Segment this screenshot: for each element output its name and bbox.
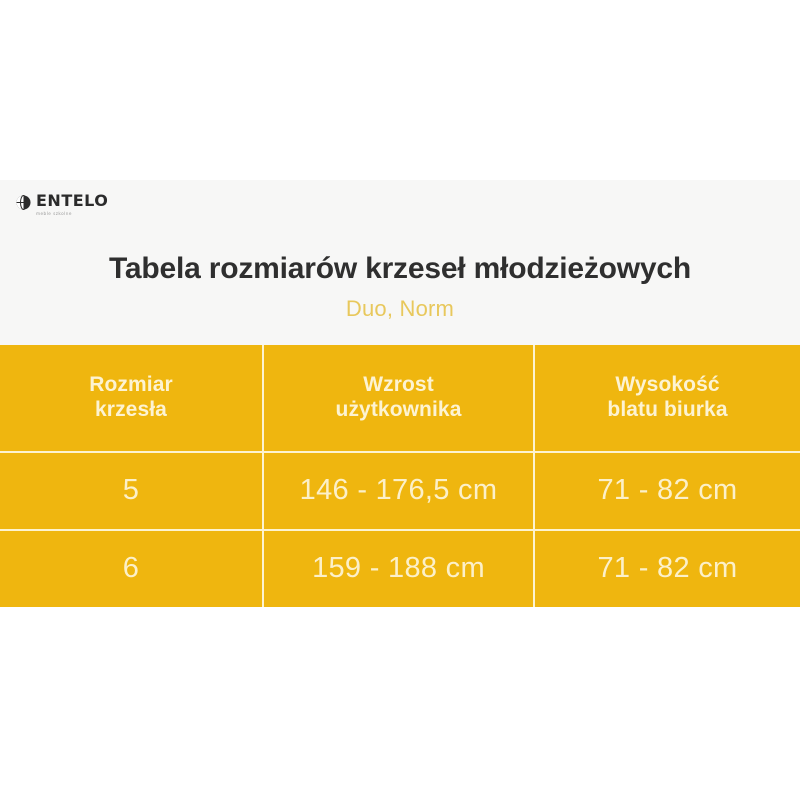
cell-user-height: 159 - 188 cm bbox=[262, 531, 533, 607]
table-header-row: Rozmiar krzesła Wzrost użytkownika Wysok… bbox=[0, 345, 800, 451]
column-header-desk-height-line2: blatu biurka bbox=[607, 398, 727, 421]
logo-tagline: meble szkolne bbox=[36, 212, 108, 216]
cell-desk-height: 71 - 82 cm bbox=[533, 453, 800, 529]
cell-chair-size: 6 bbox=[0, 531, 262, 607]
column-header-user-height-line1: Wzrost bbox=[363, 373, 434, 396]
cell-chair-size: 5 bbox=[0, 453, 262, 529]
logo-wordmark: ENTELO bbox=[36, 193, 108, 209]
cell-user-height: 146 - 176,5 cm bbox=[262, 453, 533, 529]
cell-desk-height: 71 - 82 cm bbox=[533, 531, 800, 607]
column-header-desk-height-line1: Wysokość bbox=[615, 373, 719, 396]
column-header-chair-size-line2: krzesła bbox=[95, 398, 167, 421]
entelo-logo[interactable]: ENTELO meble szkolne bbox=[16, 193, 108, 216]
size-table: Rozmiar krzesła Wzrost użytkownika Wysok… bbox=[0, 345, 800, 607]
table-row: 5 146 - 176,5 cm 71 - 82 cm bbox=[0, 451, 800, 529]
table-row: 6 159 - 188 cm 71 - 82 cm bbox=[0, 529, 800, 607]
page-subtitle: Duo, Norm bbox=[0, 296, 800, 321]
entelo-globe-icon bbox=[16, 195, 31, 210]
logo-text-block: ENTELO meble szkolne bbox=[36, 193, 108, 216]
page-title: Tabela rozmiarów krzeseł młodzieżowych bbox=[0, 252, 800, 287]
column-header-chair-size: Rozmiar krzesła bbox=[0, 345, 262, 451]
column-header-user-height: Wzrost użytkownika bbox=[262, 345, 533, 451]
column-header-desk-height: Wysokość blatu biurka bbox=[533, 345, 800, 451]
column-header-user-height-line2: użytkownika bbox=[336, 398, 462, 421]
size-chart-page: ENTELO meble szkolne Tabela rozmiarów kr… bbox=[0, 0, 800, 800]
column-header-chair-size-line1: Rozmiar bbox=[89, 373, 173, 396]
